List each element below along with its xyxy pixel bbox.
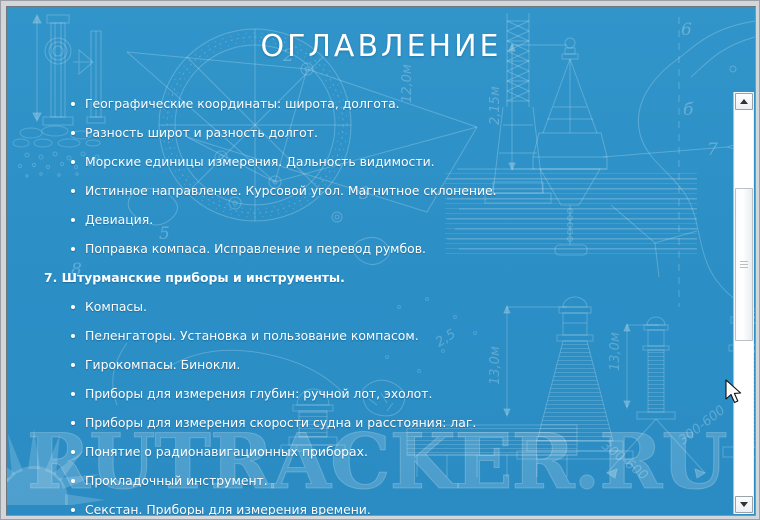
list-item-label: Девиация. [85,213,153,226]
svg-text:300-600: 300-600 [676,403,728,448]
list-item: Девиация. [67,205,667,234]
bullet-icon [71,450,75,454]
list-item-section-heading: 7. Штурманские приборы и инструменты. [35,263,675,292]
bullet-icon [71,102,75,106]
slide-viewport: 12,0м 2,15м 13,0м 13,0м 300-600 300-600 … [6,6,756,516]
list-item-label: Прокладочный инструмент. [85,474,268,487]
window-frame: 12,0м 2,15м 13,0м 13,0м 300-600 300-600 … [0,0,760,520]
page-title: ОГЛАВЛЕНИЕ [7,29,755,64]
chevron-down-icon [740,502,748,507]
section-heading-label: 7. Штурманские приборы и инструменты. [35,271,675,284]
list-item: Приборы для измерения скорости судна и р… [67,408,667,437]
svg-text:7: 7 [707,140,718,160]
list-item: Географические координаты: широта, долго… [67,89,667,118]
list-item-label: Морские единицы измерения. Дальность вид… [85,155,435,168]
bullet-icon [71,189,75,193]
list-item-label: Поправка компаса. Исправление и перевод … [85,242,426,255]
list-item-label: Понятие о радионавигационных приборах. [85,445,368,458]
list-item: Компасы. [67,292,667,321]
bullet-icon [71,508,75,512]
bullet-icon [71,392,75,396]
list-item: Истинное направление. Курсовой угол. Маг… [67,176,667,205]
list-item-label: Приборы для измерения скорости судна и р… [85,416,476,429]
list-item: Пеленгаторы. Установка и пользование ком… [67,321,667,350]
list-item: Разность широт и разность долгот. [67,118,667,147]
scroll-down-button[interactable] [735,496,753,513]
chevron-up-icon [740,99,748,104]
list-item: Приборы для измерения глубин: ручной лот… [67,379,667,408]
list-item-label: Истинное направление. Курсовой угол. Маг… [85,184,497,197]
list-item: Морские единицы измерения. Дальность вид… [67,147,667,176]
list-item-label: Географические координаты: широта, долго… [85,97,400,110]
list-item-label: Приборы для измерения глубин: ручной лот… [85,387,432,400]
bullet-icon [71,334,75,338]
table-of-contents-list: Географические координаты: широта, долго… [67,89,667,515]
list-item-label: Разность широт и разность долгот. [85,126,318,139]
scrollbar-thumb[interactable] [735,188,753,341]
svg-text:б: б [683,100,694,120]
bullet-icon [71,421,75,425]
bullet-icon [71,479,75,483]
bullet-icon [71,305,75,309]
scrollbar-track-above[interactable] [735,110,753,188]
presentation-slide: 12,0м 2,15м 13,0м 13,0м 300-600 300-600 … [7,7,755,515]
list-item: Гирокомпасы. Бинокли. [67,350,667,379]
bullet-icon [71,160,75,164]
bullet-icon [71,131,75,135]
list-item-label: Пеленгаторы. Установка и пользование ком… [85,329,419,342]
bullet-icon [71,218,75,222]
scrollbar-track-below[interactable] [735,341,753,496]
list-item: Прокладочный инструмент. [67,466,667,495]
list-item-label: Гирокомпасы. Бинокли. [85,358,240,371]
list-item-label: Секстан. Приборы для измерения времени. [85,503,371,515]
page-title-text: ОГЛАВЛЕНИЕ [260,29,501,64]
vertical-scrollbar[interactable] [733,92,754,514]
bullet-icon [71,247,75,251]
grip-lines-icon [740,261,748,269]
list-item: Секстан. Приборы для измерения времени. [67,495,667,515]
scroll-up-button[interactable] [735,93,753,110]
list-item-label: Компасы. [85,300,147,313]
list-item: Понятие о радионавигационных приборах. [67,437,667,466]
bullet-icon [71,363,75,367]
list-item: Поправка компаса. Исправление и перевод … [67,234,667,263]
